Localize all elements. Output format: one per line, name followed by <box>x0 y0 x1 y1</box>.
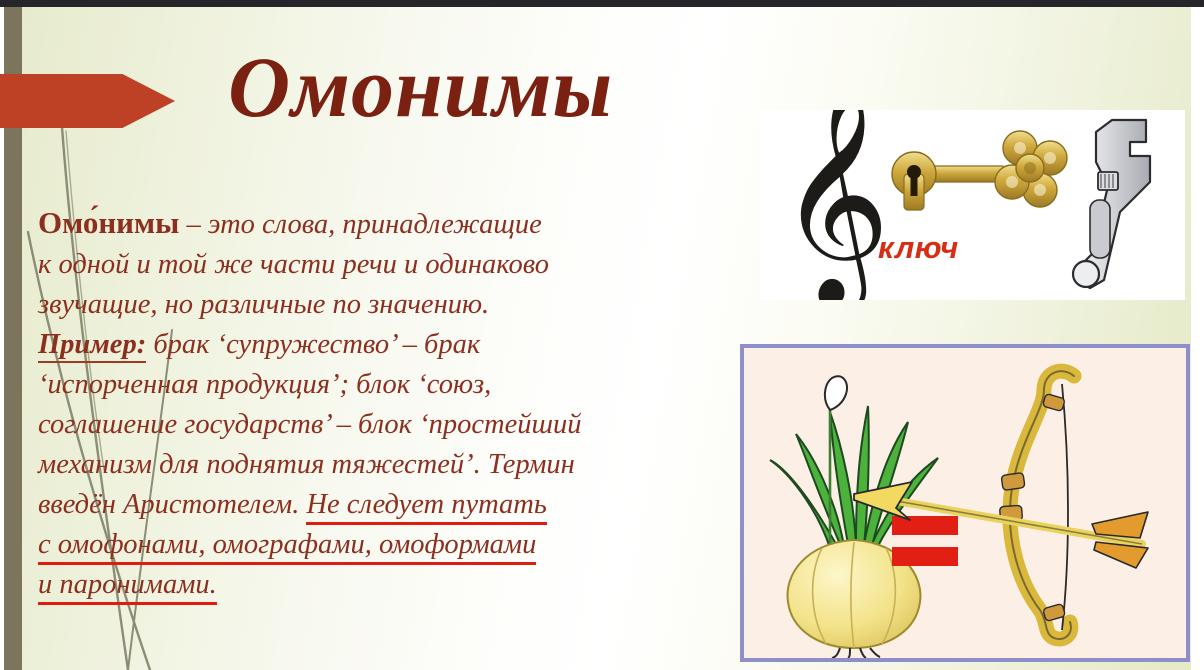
arrow-banner-decoration <box>0 74 175 128</box>
right-white-margin <box>1191 7 1204 670</box>
golden-key-icon <box>892 131 1067 210</box>
klyuch-illustration: 𝄞 <box>760 110 1185 300</box>
equals-sign-icon <box>892 516 958 566</box>
svg-text:𝄞: 𝄞 <box>778 110 890 300</box>
term-label: Омо́нимы <box>38 205 179 240</box>
klyuch-caption: ключ <box>878 230 959 266</box>
slide-canvas: Омонимы Омо́нимы – это слова, принадлежа… <box>0 0 1204 670</box>
luk-illustration <box>744 348 1186 658</box>
example-line-4-rest: брак ‘супружество’ – брак <box>146 329 480 360</box>
definition-line-8-underlined: Не следует путать <box>306 489 546 525</box>
treble-clef-icon: 𝄞 <box>778 110 890 300</box>
definition-line-1-rest: – это слова, принадлежащие <box>179 209 541 240</box>
definition-line-4: Пример: брак ‘супружество’ – брак <box>38 325 728 365</box>
homonym-image-klyuch: 𝄞 <box>760 110 1185 300</box>
definition-line-10: и паронимами. <box>38 565 728 605</box>
definition-paragraph: Омо́нимы – это слова, принадлежащие к од… <box>38 203 728 605</box>
definition-line-8-plain: введён Аристотелем. <box>38 489 306 520</box>
definition-line-1: Омо́нимы – это слова, принадлежащие <box>38 203 728 245</box>
definition-line-10-underlined: и паронимами. <box>38 569 217 605</box>
top-border-bar <box>0 0 1204 7</box>
page-title: Омонимы <box>228 44 613 130</box>
adjustable-wrench-icon <box>1073 120 1150 288</box>
definition-line-3: звучащие, но различные по значению. <box>38 285 728 325</box>
definition-line-7: механизм для поднятия тяжестей’. Термин <box>38 445 728 485</box>
example-label: Пример: <box>38 329 146 363</box>
homonym-image-luk <box>740 344 1190 662</box>
definition-line-6: соглашение государств’ – блок ‘простейши… <box>38 405 728 445</box>
definition-line-5: ‘испорченная продукция’; блок ‘союз, <box>38 365 728 405</box>
definition-line-2: к одной и той же части речи и одинаково <box>38 245 728 285</box>
definition-line-9-underlined: с омофонами, омографами, омоформами <box>38 529 536 565</box>
definition-line-9: с омофонами, омографами, омоформами <box>38 525 728 565</box>
definition-line-8: введён Аристотелем. Не следует путать <box>38 485 728 525</box>
